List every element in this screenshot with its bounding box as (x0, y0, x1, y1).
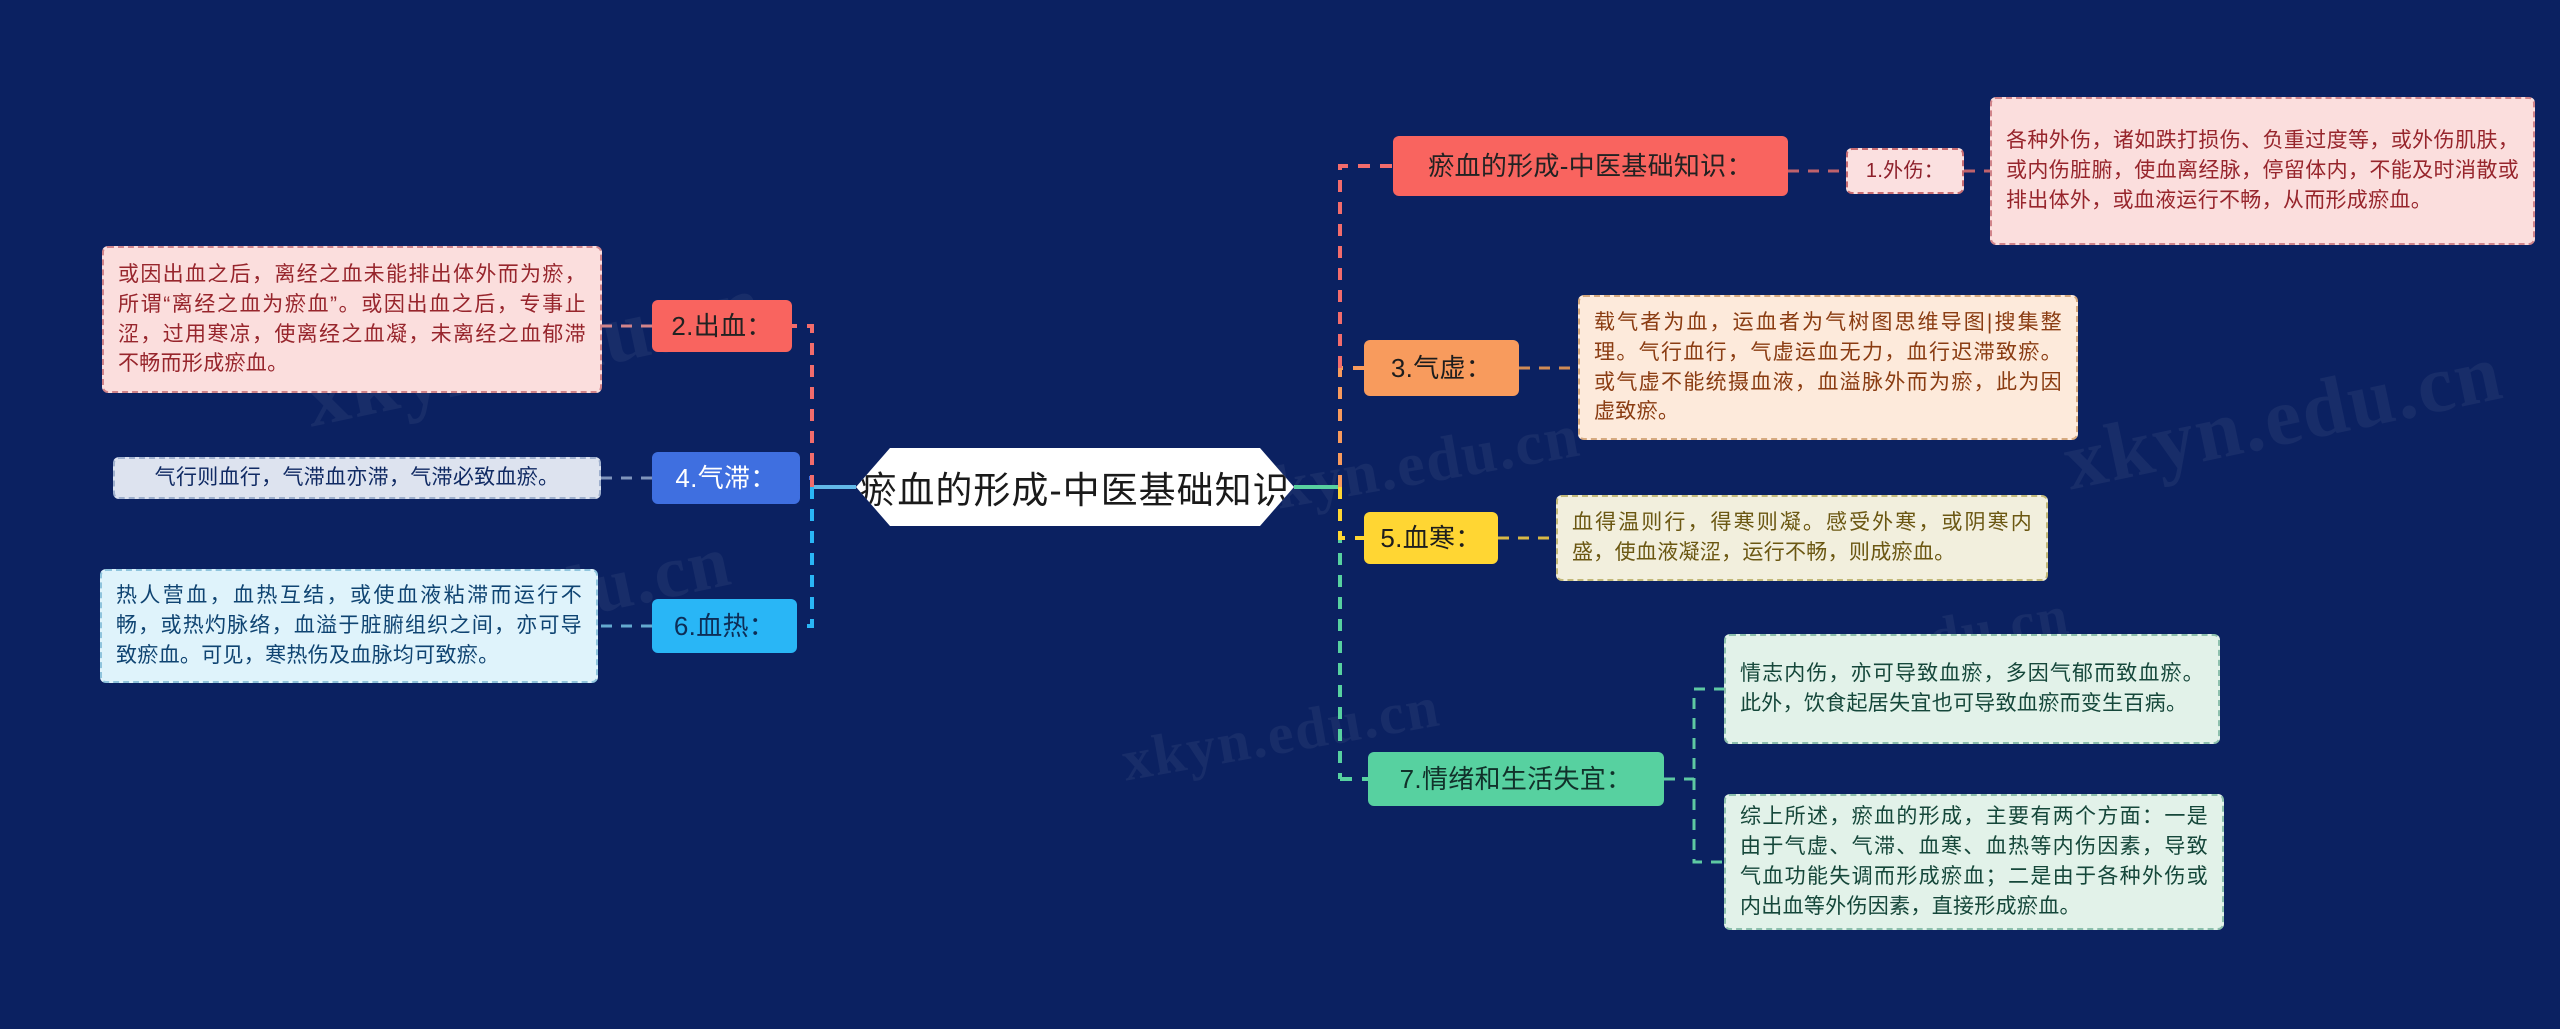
branch-node-2-chuxue[interactable]: 2.出血： (652, 300, 792, 352)
detail-node-4-qizhi[interactable]: 气行则血行，气滞血亦滞，气滞必致血瘀。 (113, 457, 601, 499)
detail-text: 热人营血，血热互结，或使血液粘滞而运行不畅，或热灼脉络，血溢于脏腑组织之间，亦可… (116, 581, 582, 670)
branch-label: 瘀血的形成-中医基础知识： (1428, 148, 1753, 185)
branch-label: 6.血热： (674, 608, 775, 645)
branch-label: 5.血寒： (1380, 520, 1481, 557)
detail-node-5-xuehan[interactable]: 血得温则行，得寒则凝。感受外寒，或阴寒内盛，使血液凝涩，运行不畅，则成瘀血。 (1556, 495, 2048, 581)
detail-text: 血得温则行，得寒则凝。感受外寒，或阴寒内盛，使血液凝涩，运行不畅，则成瘀血。 (1572, 508, 2032, 568)
detail-node-3-qixu[interactable]: 载气者为血，运血者为气树图思维导图|搜集整理。气行血行，气虚运血无力，血行迟滞致… (1578, 295, 2078, 440)
branch-node-6-xuere[interactable]: 6.血热： (652, 599, 797, 653)
detail-text: 情志内伤，亦可导致血瘀，多因气郁而致血瘀。此外，饮食起居失宜也可导致血瘀而变生百… (1740, 659, 2204, 719)
mindmap-canvas: xkyn.edu.cn xkyn.edu.cn xkyn.edu.cn xkyn… (0, 0, 2560, 1029)
branch-node-5-xuehan[interactable]: 5.血寒： (1364, 512, 1498, 564)
central-topic-node[interactable]: 瘀血的形成-中医基础知识 (856, 448, 1294, 526)
detail-text: 或因出血之后，离经之血未能排出体外而为瘀，所谓“离经之血为瘀血”。或因出血之后，… (118, 260, 586, 379)
detail-node-1-waishang[interactable]: 各种外伤，诸如跌打损伤、负重过度等，或外伤肌肤，或内伤脏腑，使血离经脉，停留体内… (1990, 97, 2535, 245)
branch-node-7-qingxu[interactable]: 7.情绪和生活失宜： (1368, 752, 1664, 806)
branch-node-root-label[interactable]: 瘀血的形成-中医基础知识： (1393, 136, 1788, 196)
branch-label: 3.气虚： (1391, 350, 1492, 387)
detail-text: 气行则血行，气滞血亦滞，气滞必致血瘀。 (155, 463, 560, 493)
detail-text: 载气者为血，运血者为气树图思维导图|搜集整理。气行血行，气虚运血无力，血行迟滞致… (1594, 308, 2062, 427)
branch-node-4-qizhi[interactable]: 4.气滞： (652, 452, 800, 504)
detail-node-7-qingxu-a[interactable]: 情志内伤，亦可导致血瘀，多因气郁而致血瘀。此外，饮食起居失宜也可导致血瘀而变生百… (1724, 634, 2220, 744)
branch-label: 7.情绪和生活失宜： (1400, 761, 1633, 798)
watermark: xkyn.edu.cn (1236, 401, 1586, 530)
branch-label: 4.气滞： (675, 460, 776, 497)
detail-text: 综上所述，瘀血的形成，主要有两个方面：一是由于气虚、气滞、血寒、血热等内伤因素，… (1740, 802, 2208, 921)
branch-label: 2.出血： (671, 308, 772, 345)
detail-node-2-chuxue[interactable]: 或因出血之后，离经之血未能排出体外而为瘀，所谓“离经之血为瘀血”。或因出血之后，… (102, 246, 602, 393)
detail-node-6-xuere[interactable]: 热人营血，血热互结，或使血液粘滞而运行不畅，或热灼脉络，血溢于脏腑组织之间，亦可… (100, 569, 598, 683)
central-topic-label: 瘀血的形成-中医基础知识 (859, 460, 1290, 514)
branch-node-3-qixu[interactable]: 3.气虚： (1364, 340, 1519, 396)
branch-node-1-waishang[interactable]: 1.外伤： (1846, 148, 1964, 194)
branch-label: 1.外伤： (1866, 157, 1944, 185)
watermark: xkyn.edu.cn (2055, 325, 2511, 510)
detail-node-7-qingxu-b[interactable]: 综上所述，瘀血的形成，主要有两个方面：一是由于气虚、气滞、血寒、血热等内伤因素，… (1724, 794, 2224, 930)
detail-text: 各种外伤，诸如跌打损伤、负重过度等，或外伤肌肤，或内伤脏腑，使血离经脉，停留体内… (2006, 126, 2519, 215)
